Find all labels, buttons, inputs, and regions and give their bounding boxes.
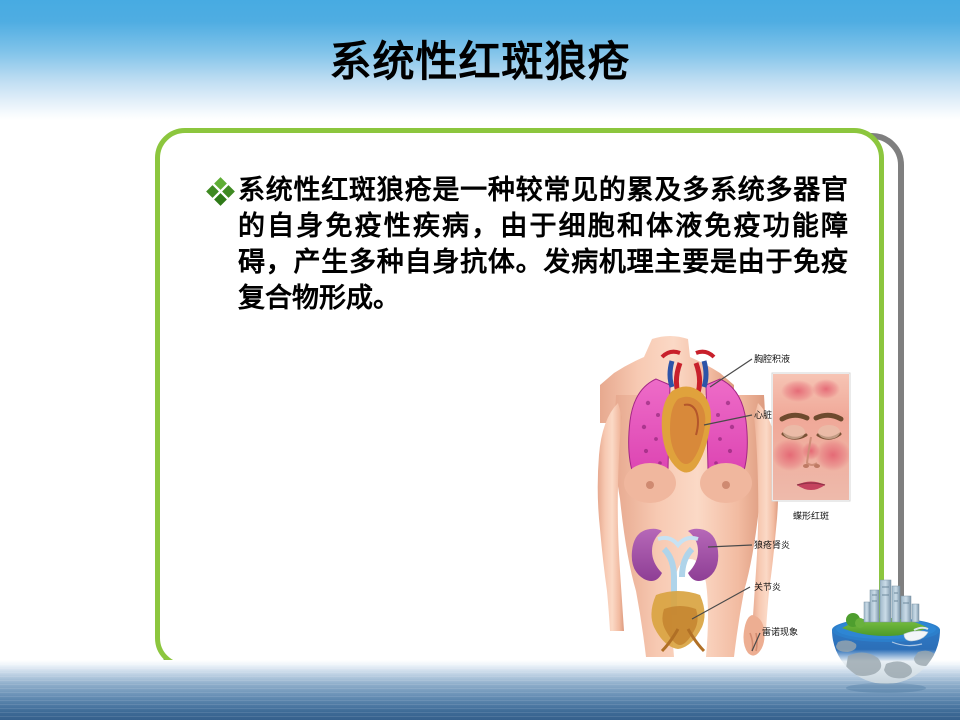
page-title: 系统性红斑狼疮 xyxy=(0,36,960,88)
ocean-gradient-band xyxy=(0,660,960,720)
content-panel: 系统性红斑狼疮是一种较常见的累及多系统多器官的自身免疫性疾病，由于细胞和体液免疫… xyxy=(155,128,884,668)
label-lupus-nephritis: 狼疮肾炎 xyxy=(754,539,790,551)
label-raynaud-phenomenon: 雷诺现象 xyxy=(762,626,798,638)
globe-city-skyline-icon xyxy=(822,572,950,698)
label-arthritis: 关节炎 xyxy=(754,581,781,593)
label-pleural-effusion: 胸腔积液 xyxy=(754,353,790,365)
butterfly-rash-photo xyxy=(772,373,851,501)
torso-anatomy-group xyxy=(598,336,779,657)
bullet-text: 系统性红斑狼疮是一种较常见的累及多系统多器官的自身免疫性疾病，由于细胞和体液免疫… xyxy=(238,173,848,317)
diamond-bullet-icon xyxy=(208,179,234,205)
figure-svg: 胸腔积液 心脏受损 狼疮肾炎 关节炎 雷诺现象 xyxy=(592,333,857,663)
lupus-organ-involvement-illustration: 胸腔积液 心脏受损 狼疮肾炎 关节炎 雷诺现象 xyxy=(592,333,857,663)
butterfly-rash-caption: 蝶形红斑 xyxy=(793,510,829,522)
bullet-list-item: 系统性红斑狼疮是一种较常见的累及多系统多器官的自身免疫性疾病，由于细胞和体液免疫… xyxy=(208,173,848,317)
slide-canvas: 系统性红斑狼疮 系统性红斑狼疮是一种较常见的累及多系统多器官的自身免疫性疾病，由… xyxy=(0,0,960,720)
